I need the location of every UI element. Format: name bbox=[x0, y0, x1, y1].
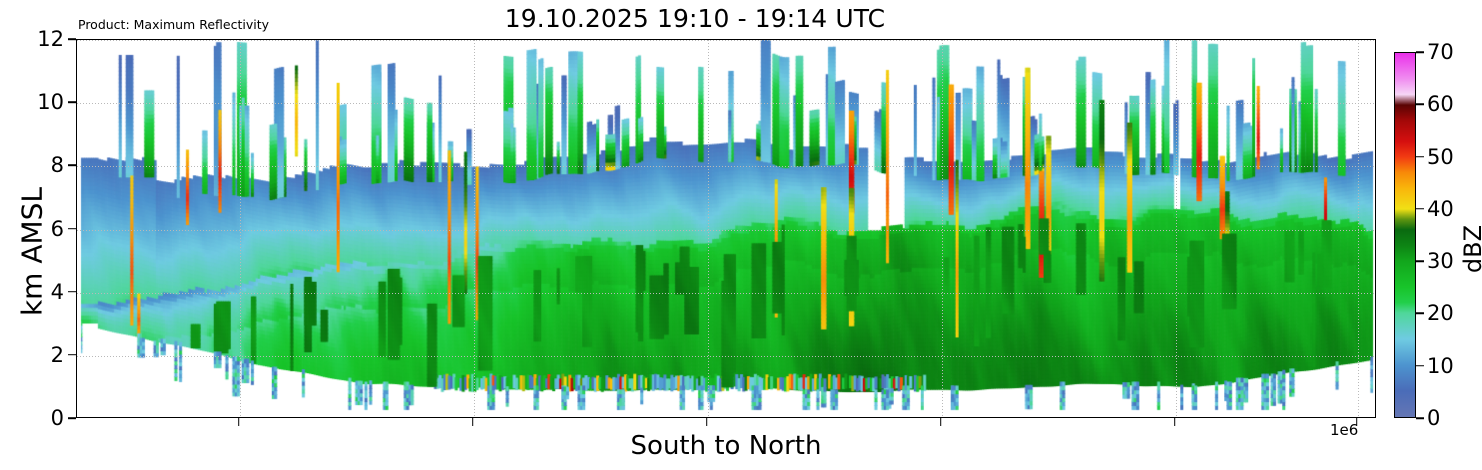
colorbar-gradient bbox=[1394, 52, 1416, 418]
colorbar-tick-label: 30 bbox=[1427, 249, 1454, 273]
y-tick-mark bbox=[68, 165, 76, 167]
radar-cross-section-figure: 19.10.2025 19:10 - 19:14 UTC Product: Ma… bbox=[0, 0, 1482, 470]
x-axis-offset-text: 1e6 bbox=[1330, 421, 1358, 439]
colorbar-tick-mark bbox=[1416, 260, 1424, 262]
x-tick-mark bbox=[472, 418, 474, 426]
y-tick-label: 8 bbox=[51, 153, 64, 177]
x-tick-mark bbox=[940, 418, 942, 426]
colorbar-tick-mark bbox=[1416, 51, 1424, 53]
colorbar-tick-mark bbox=[1416, 104, 1424, 106]
colorbar-tick-label: 70 bbox=[1427, 40, 1454, 64]
y-tick-mark bbox=[68, 291, 76, 293]
y-tick-label: 12 bbox=[37, 27, 64, 51]
colorbar-tick-label: 40 bbox=[1427, 197, 1454, 221]
colorbar-tick-mark bbox=[1416, 156, 1424, 158]
y-tick-mark bbox=[68, 101, 76, 103]
x-tick-mark bbox=[1174, 418, 1176, 426]
product-label: Product: Maximum Reflectivity bbox=[78, 17, 269, 32]
colorbar-tick-mark bbox=[1416, 313, 1424, 315]
y-tick-mark bbox=[68, 228, 76, 230]
colorbar-tick-mark bbox=[1416, 417, 1424, 419]
y-tick-mark bbox=[68, 354, 76, 356]
colorbar-tick-mark bbox=[1416, 208, 1424, 210]
plot-area bbox=[76, 39, 1376, 418]
x-tick-mark bbox=[706, 418, 708, 426]
colorbar bbox=[1394, 52, 1416, 418]
colorbar-tick-label: 20 bbox=[1427, 301, 1454, 325]
y-tick-mark bbox=[68, 38, 76, 40]
y-axis-label: km AMSL bbox=[16, 162, 49, 342]
colorbar-unit-label: dBZ bbox=[1459, 204, 1482, 294]
y-tick-mark bbox=[68, 417, 76, 419]
x-tick-mark bbox=[1356, 418, 1358, 426]
y-tick-label: 0 bbox=[51, 406, 64, 430]
y-tick-label: 6 bbox=[51, 217, 64, 241]
colorbar-tick-label: 60 bbox=[1427, 92, 1454, 116]
y-tick-label: 10 bbox=[37, 90, 64, 114]
y-tick-label: 4 bbox=[51, 280, 64, 304]
colorbar-tick-label: 0 bbox=[1427, 406, 1440, 430]
colorbar-tick-mark bbox=[1416, 365, 1424, 367]
reflectivity-heatmap bbox=[77, 40, 1375, 417]
colorbar-tick-label: 10 bbox=[1427, 354, 1454, 378]
colorbar-tick-label: 50 bbox=[1427, 145, 1454, 169]
x-axis-label: South to North bbox=[76, 431, 1376, 461]
y-tick-label: 2 bbox=[51, 343, 64, 367]
x-tick-mark bbox=[238, 418, 240, 426]
